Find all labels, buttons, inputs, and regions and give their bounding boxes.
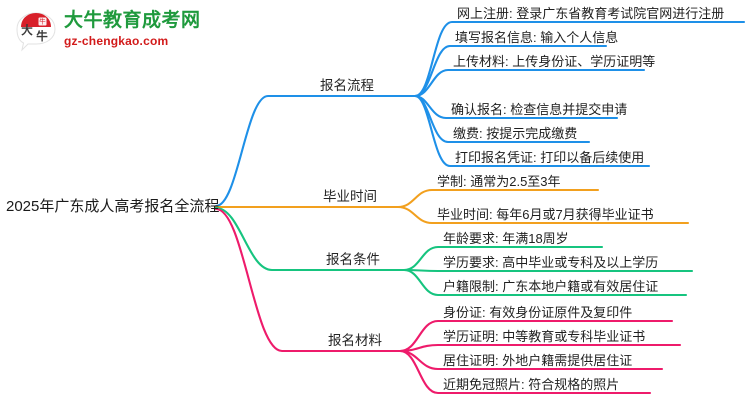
branch-label-baomingcailiao[interactable]: 报名材料 — [328, 334, 382, 348]
branch-spine-1 — [216, 96, 415, 206]
branch-spine-4 — [216, 209, 400, 351]
leaf-node-2-1[interactable]: 学制: 通常为2.5至3年 — [437, 175, 561, 188]
leaf-node-4-2[interactable]: 学历证明: 中等教育或专科毕业证书 — [443, 330, 645, 343]
root-topic[interactable]: 2025年广东成人高考报名全流程 — [6, 199, 219, 214]
leaf-node-1-1[interactable]: 网上注册: 登录广东省教育考试院官网进行注册 — [457, 7, 724, 20]
leaf-node-1-5[interactable]: 缴费: 按提示完成缴费 — [453, 127, 577, 140]
mindmap-canvas: 牛 大 牛 大牛教育成考网 gz-chengkao.com — [0, 0, 750, 410]
leaf-node-3-2[interactable]: 学历要求: 高中毕业或专科及以上学历 — [443, 256, 658, 269]
leaf-node-4-3[interactable]: 居住证明: 外地户籍需提供居住证 — [443, 354, 632, 367]
branch-label-baomingtiaojian[interactable]: 报名条件 — [326, 253, 380, 267]
leaf-node-4-1[interactable]: 身份证: 有效身份证原件及复印件 — [443, 306, 632, 319]
leaf-node-2-2[interactable]: 毕业时间: 每年6月或7月获得毕业证书 — [437, 208, 654, 221]
branch-label-biyeshijian[interactable]: 毕业时间 — [323, 190, 377, 204]
branch-label-baomingliucheng[interactable]: 报名流程 — [320, 79, 374, 93]
leaf-node-1-3[interactable]: 上传材料: 上传身份证、学历证明等 — [453, 55, 655, 68]
leaf-wire-4-2 — [400, 345, 680, 351]
leaf-wire-3-2 — [404, 270, 692, 271]
leaf-node-1-4[interactable]: 确认报名: 检查信息并提交申请 — [451, 103, 627, 116]
leaf-node-1-2[interactable]: 填写报名信息: 输入个人信息 — [455, 31, 618, 44]
leaf-wire-2-1 — [398, 190, 598, 207]
leaf-node-1-6[interactable]: 打印报名凭证: 打印以备后续使用 — [455, 151, 644, 164]
leaf-node-4-4[interactable]: 近期免冠照片: 符合规格的照片 — [443, 378, 619, 391]
leaf-wire-1-3 — [415, 70, 644, 96]
leaf-node-3-3[interactable]: 户籍限制: 广东本地户籍或有效居住证 — [443, 280, 658, 293]
leaf-node-3-1[interactable]: 年龄要求: 年满18周岁 — [443, 232, 569, 245]
